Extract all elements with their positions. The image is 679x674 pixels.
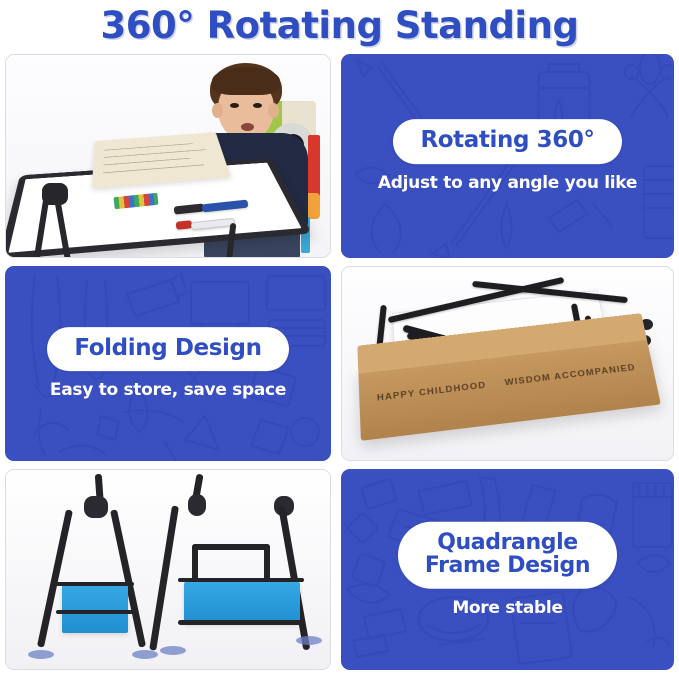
feature-quadrangle: Quadrangle Frame Design More stable bbox=[341, 469, 674, 670]
page-title: 360° Rotating Standing bbox=[101, 4, 579, 47]
marker-pen-icon bbox=[176, 220, 193, 230]
feature-sub-label: Adjust to any angle you like bbox=[341, 173, 674, 193]
product-feature-infographic: 360° Rotating Standing bbox=[0, 0, 679, 674]
feature-sub-label: More stable bbox=[341, 598, 674, 618]
feature-folding: Folding Design Easy to store, save space bbox=[5, 266, 331, 461]
grid-cell-3: Folding Design Easy to store, save space bbox=[0, 262, 336, 465]
grid-cell-5 bbox=[0, 465, 336, 674]
feature-pill-label: Quadrangle Frame Design bbox=[425, 530, 590, 578]
grid-cell-1 bbox=[0, 50, 336, 262]
tripod-stand bbox=[20, 183, 92, 258]
feature-pill-quadrangle: Quadrangle Frame Design bbox=[398, 521, 617, 589]
feature-grid: Rotating 360° Adjust to any angle you li… bbox=[0, 50, 679, 674]
photo-boy-drawing bbox=[5, 54, 331, 258]
feature-pill-rotating: Rotating 360° bbox=[393, 119, 621, 164]
photo-frame-legs bbox=[5, 469, 331, 670]
feature-sub-label: Easy to store, save space bbox=[5, 380, 331, 400]
box-text-right: WISDOM ACCOMPANIED bbox=[504, 362, 637, 388]
feature-pill-label: Rotating 360° bbox=[420, 128, 594, 153]
box-text-left: HAPPY CHILDHOOD bbox=[377, 380, 487, 404]
grid-cell-6: Quadrangle Frame Design More stable bbox=[336, 465, 679, 674]
grid-cell-2: Rotating 360° Adjust to any angle you li… bbox=[336, 50, 679, 262]
storage-bag-icon bbox=[62, 585, 128, 633]
photo-folded-box: HAPPY CHILDHOOD WISDOM ACCOMPANIED bbox=[341, 266, 674, 461]
feature-pill-folding: Folding Design bbox=[47, 327, 288, 372]
grid-cell-4: HAPPY CHILDHOOD WISDOM ACCOMPANIED bbox=[336, 262, 679, 465]
feature-pill-label: Folding Design bbox=[74, 336, 261, 361]
page-header: 360° Rotating Standing bbox=[0, 0, 679, 50]
storage-bag-icon bbox=[184, 582, 300, 624]
feature-rotating: Rotating 360° Adjust to any angle you li… bbox=[341, 54, 674, 258]
